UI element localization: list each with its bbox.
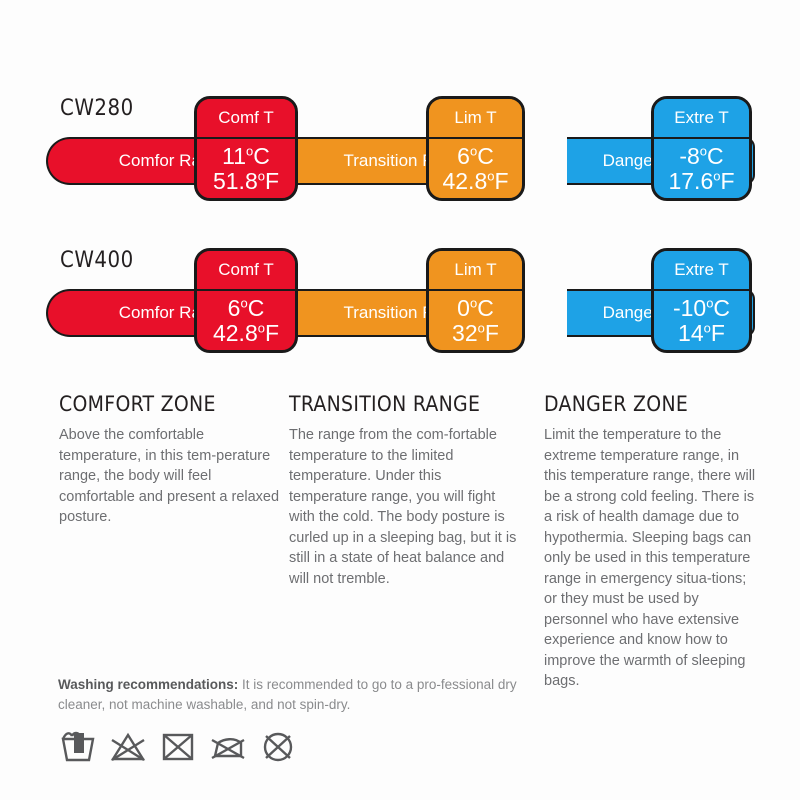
marker-values: -10oC 14oF bbox=[654, 291, 749, 350]
marker-values: 6oC 42.8oF bbox=[197, 291, 295, 350]
marker-extreme-temp-cw400: Extre T -10oC 14oF bbox=[651, 248, 752, 353]
washing-recommendations: Washing recommendations: It is recommend… bbox=[58, 675, 528, 715]
marker-comfort-temp-cw280: Comf T 11oC 51.8oF bbox=[194, 96, 298, 201]
marker-celsius: -8oC bbox=[679, 144, 723, 168]
column-danger-zone: DANGER ZONE Limit the temperature to the… bbox=[544, 392, 759, 692]
do-not-dry-clean-icon bbox=[258, 727, 298, 765]
marker-celsius: 6oC bbox=[457, 144, 494, 168]
marker-limit-temp-cw400: Lim T 0oC 32oF bbox=[426, 248, 525, 353]
marker-values: 6oC 42.8oF bbox=[429, 139, 522, 198]
marker-fahrenheit: 32oF bbox=[452, 321, 499, 345]
temperature-band-cw280: Comfor Range Transition R Danger R bbox=[46, 137, 752, 185]
column-body: The range from the com-fortable temperat… bbox=[289, 425, 521, 589]
marker-celsius: 0oC bbox=[457, 296, 494, 320]
do-not-iron-icon bbox=[208, 727, 248, 765]
marker-limit-temp-cw280: Lim T 6oC 42.8oF bbox=[426, 96, 525, 201]
column-title: COMFORT ZONE bbox=[59, 392, 284, 416]
washing-heading: Washing recommendations: bbox=[58, 677, 238, 692]
marker-values: -8oC 17.6oF bbox=[654, 139, 749, 198]
do-not-bleach-icon bbox=[108, 727, 148, 765]
column-body: Limit the temperature to the extreme tem… bbox=[544, 425, 759, 692]
marker-fahrenheit: 51.8oF bbox=[213, 169, 279, 193]
marker-extreme-temp-cw280: Extre T -8oC 17.6oF bbox=[651, 96, 752, 201]
washing-text: Washing recommendations: It is recommend… bbox=[58, 675, 528, 715]
marker-fahrenheit: 17.6oF bbox=[668, 169, 734, 193]
marker-title: Extre T bbox=[654, 99, 749, 139]
column-body: Above the comfortable temperature, in th… bbox=[59, 425, 284, 528]
marker-fahrenheit: 42.8oF bbox=[442, 169, 508, 193]
marker-comfort-temp-cw400: Comf T 6oC 42.8oF bbox=[194, 248, 298, 353]
model-label-cw400: CW400 bbox=[60, 248, 134, 273]
marker-values: 11oC 51.8oF bbox=[197, 139, 295, 198]
column-title: DANGER ZONE bbox=[544, 392, 759, 416]
marker-title: Lim T bbox=[429, 99, 522, 139]
marker-celsius: 6oC bbox=[228, 296, 265, 320]
do-not-tumble-dry-icon bbox=[158, 727, 198, 765]
column-title: TRANSITION RANGE bbox=[289, 392, 521, 416]
marker-title: Comf T bbox=[197, 99, 295, 139]
sleeping-bag-temperature-infographic: CW280 Comfor Range Transition R Danger R… bbox=[0, 0, 800, 800]
temperature-scale-cw400: CW400 Comfor Range Transition R Danger R… bbox=[0, 232, 800, 382]
temperature-scale-cw280: CW280 Comfor Range Transition R Danger R… bbox=[0, 80, 800, 230]
marker-celsius: 11oC bbox=[222, 144, 270, 168]
temperature-band-cw400: Comfor Range Transition R Danger R bbox=[46, 289, 752, 337]
marker-title: Comf T bbox=[197, 251, 295, 291]
marker-title: Extre T bbox=[654, 251, 749, 291]
marker-celsius: -10oC bbox=[673, 296, 730, 320]
hand-wash-icon bbox=[58, 727, 98, 765]
marker-fahrenheit: 14oF bbox=[678, 321, 725, 345]
marker-fahrenheit: 42.8oF bbox=[213, 321, 279, 345]
care-symbol-row bbox=[58, 727, 298, 765]
marker-title: Lim T bbox=[429, 251, 522, 291]
model-label-cw280: CW280 bbox=[60, 96, 134, 121]
column-comfort-zone: COMFORT ZONE Above the comfortable tempe… bbox=[59, 392, 284, 528]
marker-values: 0oC 32oF bbox=[429, 291, 522, 350]
column-transition-range: TRANSITION RANGE The range from the com-… bbox=[289, 392, 521, 589]
